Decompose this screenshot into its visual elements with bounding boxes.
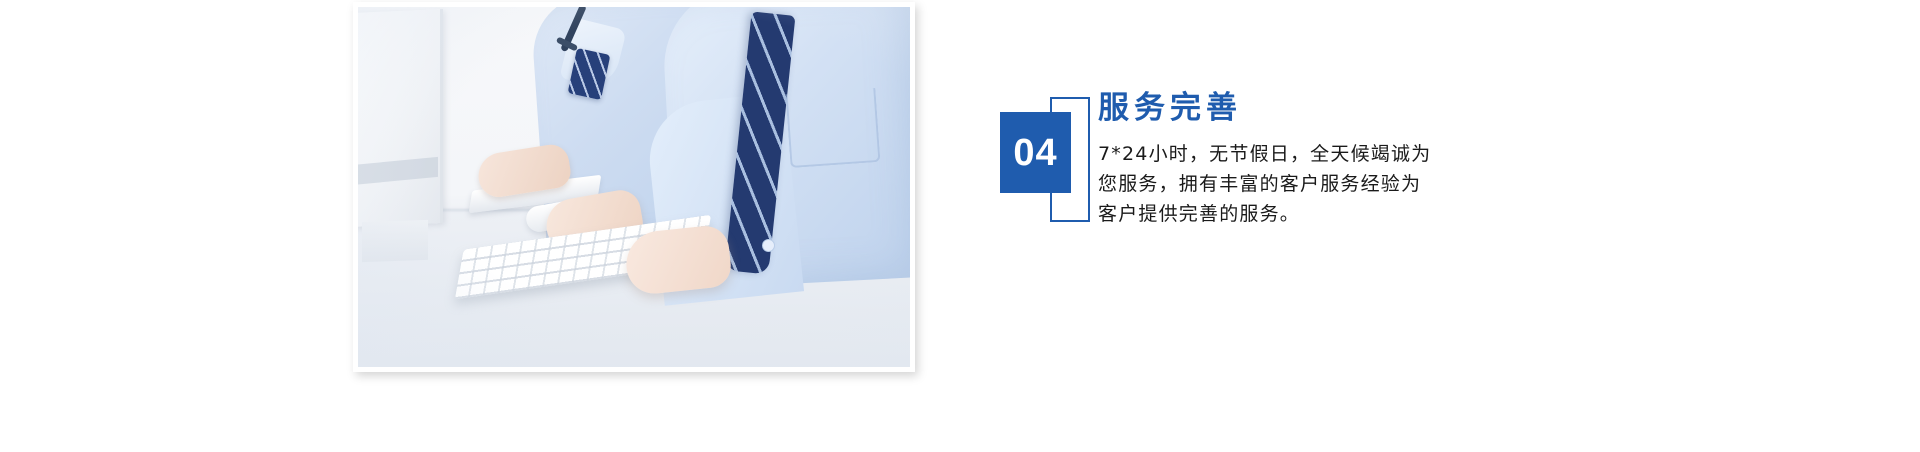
service-feature-banner: 04 服务完善 7*24小时，无节假日，全天候竭诚为 您服务，拥有丰富的客户服务… bbox=[0, 0, 1920, 452]
photo-vignette bbox=[358, 7, 910, 367]
feature-description-line-2: 您服务，拥有丰富的客户服务经验为 bbox=[1098, 169, 1528, 199]
feature-title: 服务完善 bbox=[1098, 90, 1528, 127]
badge-filled-square: 04 bbox=[1000, 112, 1071, 193]
feature-text-column: 服务完善 7*24小时，无节假日，全天候竭诚为 您服务，拥有丰富的客户服务经验为… bbox=[1098, 90, 1528, 229]
feature-description-line-3: 客户提供完善的服务。 bbox=[1098, 199, 1528, 229]
feature-number-badge: 04 bbox=[1000, 90, 1096, 222]
badge-number-label: 04 bbox=[1013, 134, 1057, 172]
feature-description: 7*24小时，无节假日，全天候竭诚为 您服务，拥有丰富的客户服务经验为 客户提供… bbox=[1098, 139, 1528, 229]
feature-description-line-1: 7*24小时，无节假日，全天候竭诚为 bbox=[1098, 139, 1528, 169]
office-photo bbox=[358, 7, 910, 367]
office-photo-frame bbox=[353, 2, 915, 372]
